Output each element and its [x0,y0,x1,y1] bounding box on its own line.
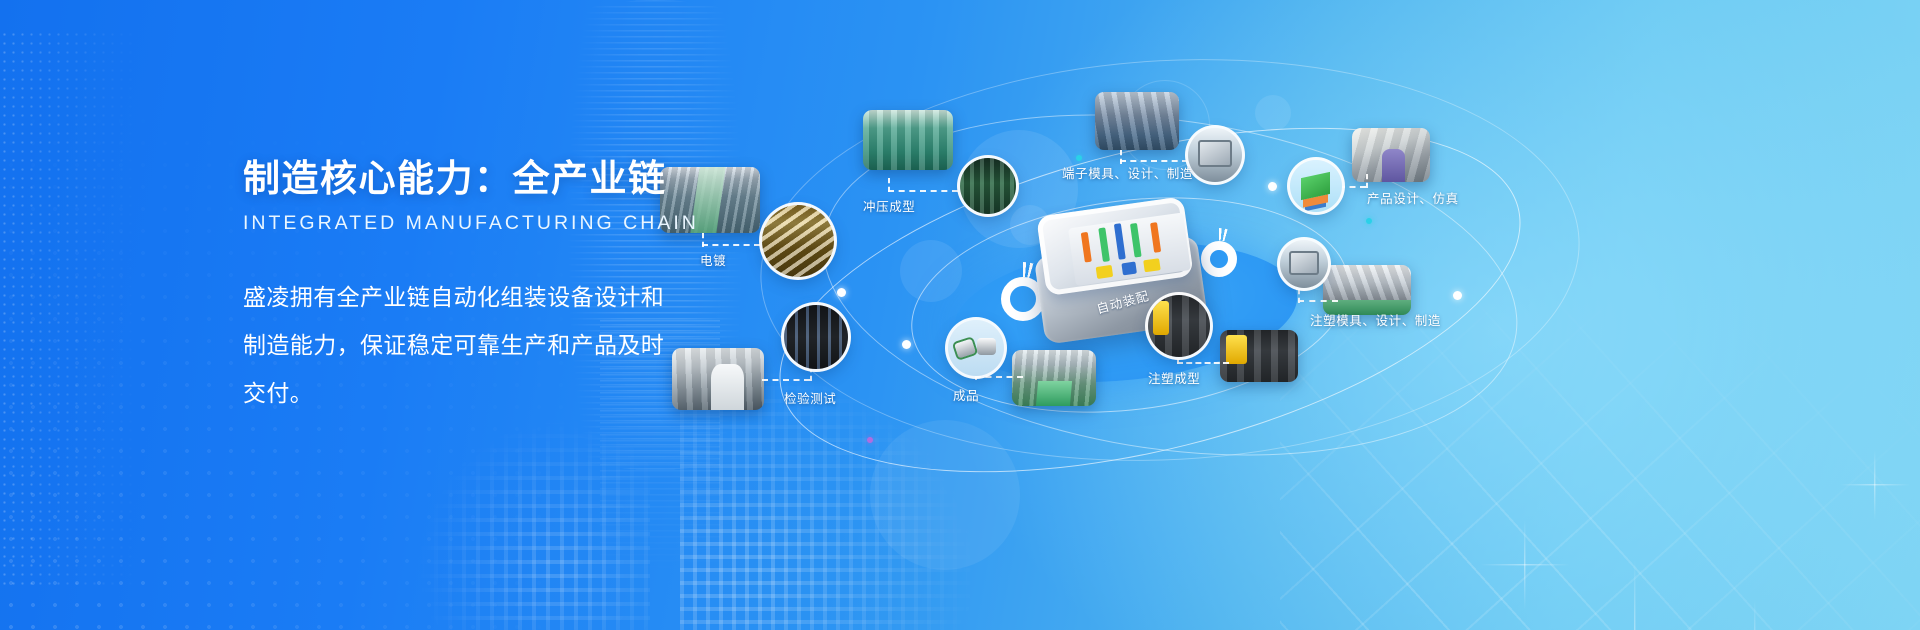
node-connector [888,190,958,192]
node-photo [1220,330,1298,382]
node-bubble [948,320,1004,376]
accent-dot [867,437,873,443]
description-text: 盛凌拥有全产业链自动化组装设备设计和制造能力，保证稳定可靠生产和产品及时交付。 [243,273,683,417]
machine-pin [1150,222,1161,253]
machine-pin [1081,232,1092,263]
node-bubble [1148,295,1210,357]
orbit-node-dot [902,340,911,349]
headline-block: 制造核心能力：全产业链 INTEGRATED MANUFACTURING CHA… [243,148,863,417]
node-caption: 注塑模具、设计、制造 [1310,310,1441,329]
node-connector [975,376,1023,378]
node-photo [863,110,953,170]
machine-pin [1143,258,1161,272]
node-photo [1012,350,1096,406]
machine-pin [1121,262,1137,276]
manufacturing-chain-banner: 制造核心能力：全产业链 INTEGRATED MANUFACTURING CHA… [0,0,1920,630]
node-photo [1323,265,1411,315]
accent-dot [1366,218,1372,224]
machine-pin [1096,265,1114,279]
node-bubble [960,158,1016,214]
node-bubble [1290,160,1342,212]
fine-dot-strip [0,30,140,590]
node-photo [1352,128,1430,182]
node-connector-stem [1298,289,1300,303]
machine-pin [1130,223,1142,258]
page-title: 制造核心能力：全产业链 [243,148,863,202]
accent-dot [1076,155,1082,161]
node-caption: 产品设计、仿真 [1367,188,1459,207]
machine-pin [1098,227,1110,262]
node-bubble [1280,240,1328,288]
node-caption: 冲压成型 [863,196,915,215]
node-connector [1298,300,1338,302]
node-photo [1095,92,1179,150]
machine-inner-panel [1068,212,1191,286]
square-grid-pattern-b [420,420,650,630]
node-connector-stem [1366,174,1368,188]
node-caption: 成品 [953,385,979,404]
page-subtitle: INTEGRATED MANUFACTURING CHAIN [243,212,863,235]
node-bubble [1188,128,1242,182]
orbit-node-dot [1453,291,1462,300]
node-caption: 端子模具、设计、制造 [1062,163,1193,182]
node-connector [1120,160,1188,162]
machine-pin [1114,223,1126,260]
node-caption: 注塑成型 [1148,368,1200,387]
orbit-node-dot [1268,182,1277,191]
node-connector [1177,362,1229,364]
process-chain-diagram: 自动装配 电镀 冲压成型 [790,0,1920,630]
node-connector-stem [888,178,890,192]
node-connector-stem [1120,150,1122,164]
